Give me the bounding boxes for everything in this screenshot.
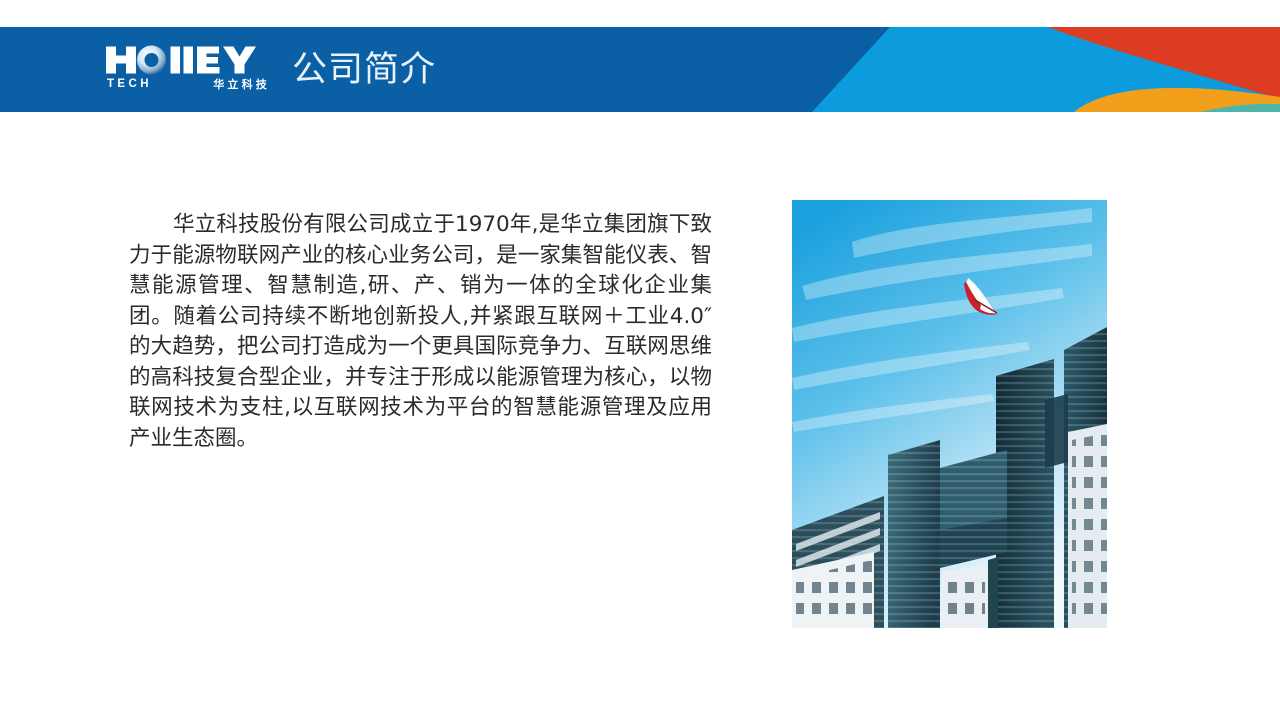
holley-wordmark-icon [105, 44, 270, 76]
building-photo-illustration [792, 200, 1107, 628]
logo-sub-latin: TECH [107, 79, 152, 91]
company-profile-paragraph: 华立科技股份有限公司成立于1970年,是华立集团旗下致力于能源物联网产业的核心业… [129, 210, 712, 454]
holley-tech-logo: TECH 华立科技 [105, 44, 270, 94]
logo-sub-cjk: 华立科技 [213, 79, 270, 90]
holley-logo-subtitle: TECH 华立科技 [107, 77, 270, 92]
slide-title: 公司简介 [292, 48, 436, 92]
building-photo [792, 200, 1107, 628]
